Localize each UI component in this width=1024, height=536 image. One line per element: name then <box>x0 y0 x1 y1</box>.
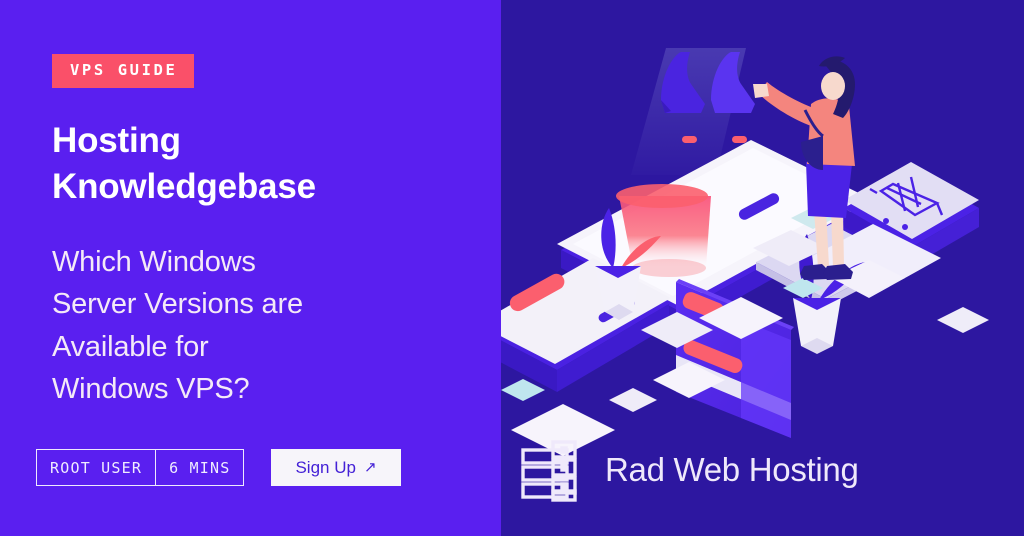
article-banner: VPS GUIDE Hosting Knowledgebase Which Wi… <box>0 0 1024 536</box>
category-badge: VPS GUIDE <box>52 54 194 88</box>
server-rack-icon <box>515 434 587 506</box>
sign-up-button[interactable]: Sign Up ↗ <box>271 449 400 486</box>
arrow-up-right-icon: ↗ <box>364 460 377 475</box>
meta-author: ROOT USER <box>37 450 155 485</box>
article-title: Which Windows Server Versions are Availa… <box>52 241 452 412</box>
page-title-line-1: Hosting <box>52 118 452 165</box>
brand-name: Rad Web Hosting <box>605 451 859 489</box>
article-title-line-4: Windows VPS? <box>52 368 452 411</box>
meta-info-bar: ROOT USER 6 MINS <box>36 449 244 486</box>
sign-up-label: Sign Up <box>295 458 355 478</box>
meta-read-time: 6 MINS <box>155 450 243 485</box>
page-title: Hosting Knowledgebase <box>52 118 452 211</box>
article-title-line-3: Available for <box>52 326 452 369</box>
right-illustration-panel: Rad Web Hosting <box>501 0 1024 536</box>
article-title-line-2: Server Versions are <box>52 283 452 326</box>
left-content-panel: VPS GUIDE Hosting Knowledgebase Which Wi… <box>0 0 501 536</box>
brand-logo: Rad Web Hosting <box>515 434 1024 506</box>
banner-footer: ROOT USER 6 MINS Sign Up ↗ <box>36 449 401 486</box>
page-title-line-2: Knowledgebase <box>52 164 452 211</box>
article-title-line-1: Which Windows <box>52 241 452 284</box>
